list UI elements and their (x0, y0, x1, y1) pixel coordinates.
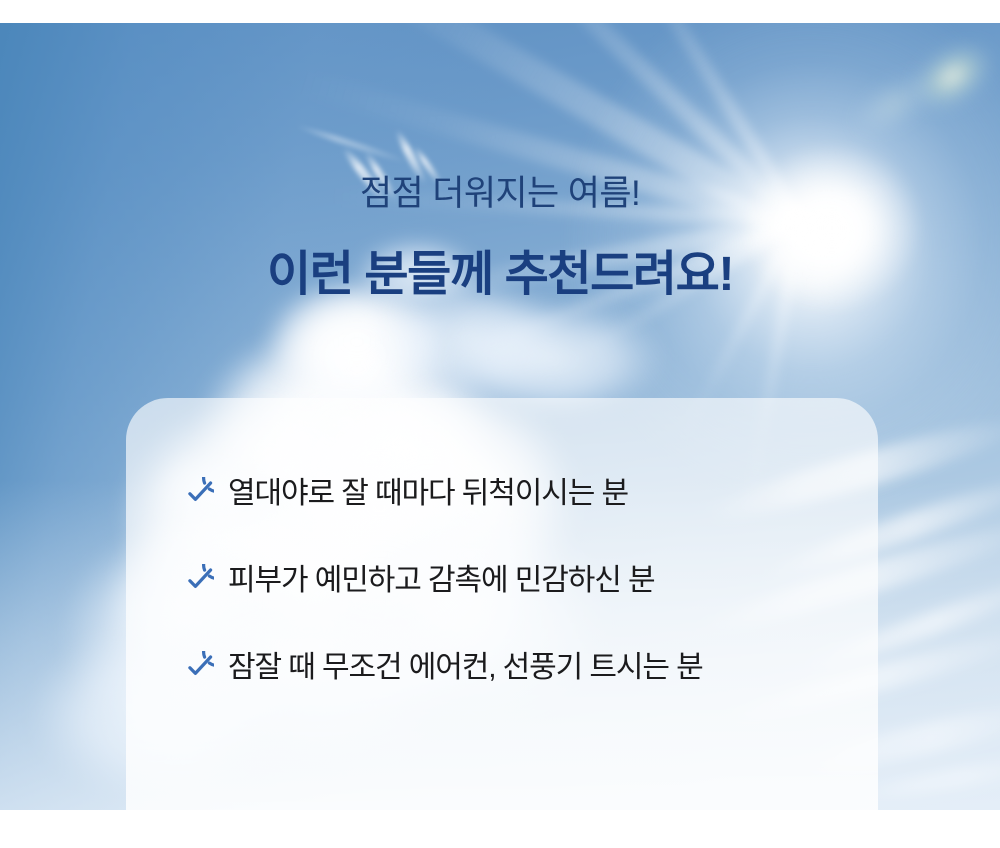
list-item-label: 잠잘 때 무조건 에어컨, 선풍기 트시는 분 (228, 650, 703, 686)
list-item: 잠잘 때 무조건 에어컨, 선풍기 트시는 분 (180, 646, 858, 690)
promo-banner: 점점 더워지는 여름! 이런 분들께 추천드려요! 열대야로 잘 때마다 뒤척이… (0, 0, 1000, 848)
circle-check-icon (180, 477, 214, 511)
list-item: 피부가 예민하고 감촉에 민감하신 분 (180, 559, 858, 603)
circle-check-icon (180, 651, 214, 685)
circle-check-icon (180, 564, 214, 598)
list-item: 열대야로 잘 때마다 뒤척이시는 분 (180, 472, 858, 516)
bullet-list: 열대야로 잘 때마다 뒤척이시는 분 피부가 예민하고 감촉에 민감하신 분 잠… (180, 472, 858, 690)
banner-headline: 이런 분들께 추천드려요! (0, 248, 1000, 303)
banner-subtitle: 점점 더워지는 여름! (0, 174, 1000, 213)
list-item-label: 열대야로 잘 때마다 뒤척이시는 분 (228, 476, 628, 512)
bullet-card: 열대야로 잘 때마다 뒤척이시는 분 피부가 예민하고 감촉에 민감하신 분 잠… (126, 398, 878, 810)
list-item-label: 피부가 예민하고 감촉에 민감하신 분 (228, 563, 654, 599)
